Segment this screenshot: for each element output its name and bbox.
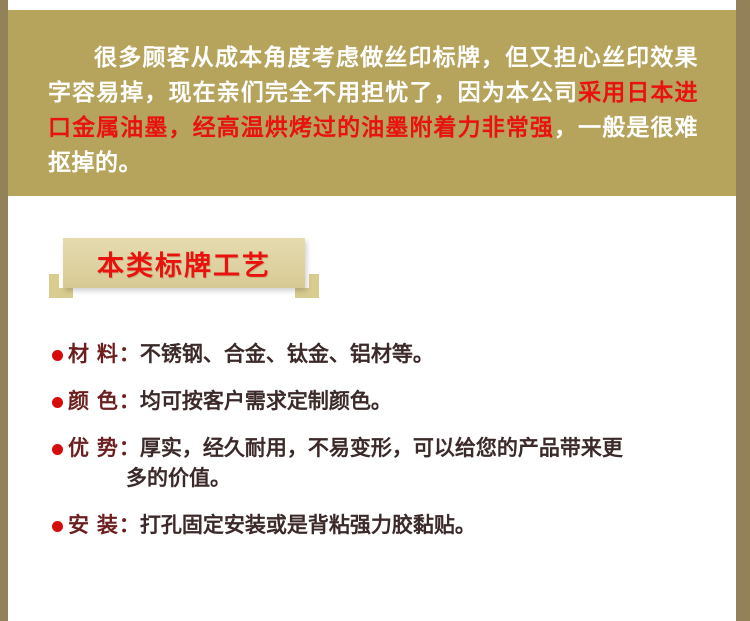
- spec-value: 打孔固定安装或是背粘强力胶黏贴。: [140, 514, 476, 537]
- list-item: 材 料：不锈钢、合金、钛金、铝材等。: [52, 340, 712, 370]
- list-item: 优 势：厚实，经久耐用，不易变形，可以给您的产品带来更多的价值。: [52, 434, 712, 494]
- spec-colon: ：: [119, 343, 140, 366]
- spec-label: 优 势: [68, 437, 119, 460]
- spec-body: 安 装：打孔固定安装或是背粘强力胶黏贴。: [68, 511, 712, 541]
- bullet-dot-icon: [52, 350, 63, 361]
- spec-colon: ：: [119, 514, 140, 537]
- bullet-dot-icon: [52, 397, 63, 408]
- spec-body: 颜 色：均可按客户需求定制颜色。: [68, 387, 712, 417]
- right-edge-rail: [736, 0, 750, 621]
- left-edge-rail: [0, 0, 8, 621]
- page-frame: 很多顾客从成本角度考虑做丝印标牌，但又担心丝印效果字容易掉，现在亲们完全不用担忧…: [0, 0, 750, 621]
- spec-colon: ：: [119, 390, 140, 413]
- spec-value-line2: 多的价值。: [68, 464, 712, 494]
- section-title-ribbon: 本类标牌工艺: [63, 238, 305, 288]
- list-item: 安 装：打孔固定安装或是背粘强力胶黏贴。: [52, 511, 712, 541]
- spec-value: 均可按客户需求定制颜色。: [140, 390, 392, 413]
- spec-label: 材 料: [68, 343, 119, 366]
- spec-label: 安 装: [68, 514, 119, 537]
- spec-value: 不锈钢、合金、钛金、铝材等。: [140, 343, 434, 366]
- promo-paragraph: 很多顾客从成本角度考虑做丝印标牌，但又担心丝印效果字容易掉，现在亲们完全不用担忧…: [48, 40, 698, 180]
- section-heading: 本类标牌工艺: [63, 238, 305, 288]
- list-item: 颜 色：均可按客户需求定制颜色。: [52, 387, 712, 417]
- spec-body: 材 料：不锈钢、合金、钛金、铝材等。: [68, 340, 712, 370]
- promo-banner: 很多顾客从成本角度考虑做丝印标牌，但又担心丝印效果字容易掉，现在亲们完全不用担忧…: [8, 10, 736, 196]
- bullet-dot-icon: [52, 444, 63, 455]
- spec-label: 颜 色: [68, 390, 119, 413]
- bullet-dot-icon: [52, 521, 63, 532]
- spec-body: 优 势：厚实，经久耐用，不易变形，可以给您的产品带来更多的价值。: [68, 434, 712, 494]
- spec-value: 厚实，经久耐用，不易变形，可以给您的产品带来更: [140, 437, 623, 460]
- spec-colon: ：: [119, 437, 140, 460]
- spec-list: 材 料：不锈钢、合金、钛金、铝材等。 颜 色：均可按客户需求定制颜色。 优 势：…: [52, 340, 712, 558]
